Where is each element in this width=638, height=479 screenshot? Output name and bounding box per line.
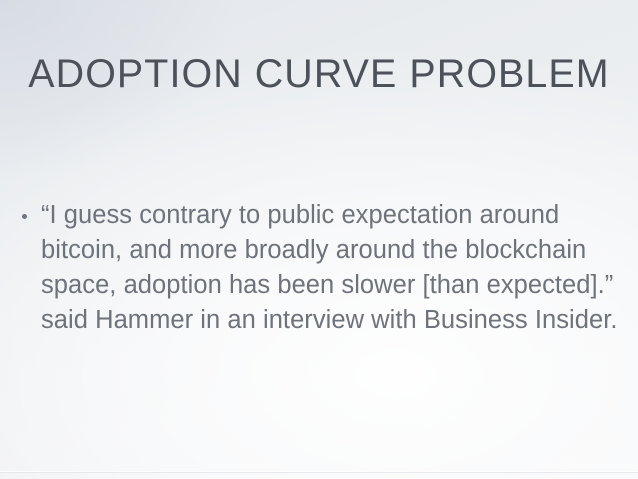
bullet-text-line-1: “I guess contrary to public expectation … xyxy=(41,198,628,233)
bottom-seam-divider xyxy=(0,471,638,472)
slide-canvas: ADOPTION CURVE PROBLEM “I guess contrary… xyxy=(0,0,638,479)
bullet-dot-icon xyxy=(22,214,27,219)
bullet-item-text: “I guess contrary to public expectation … xyxy=(41,198,628,338)
bullet-list-item: “I guess contrary to public expectation … xyxy=(14,198,628,338)
bullet-text-line-2: bitcoin, and more broadly around the blo… xyxy=(41,233,628,268)
bullet-text-line-4: said Hammer in an interview with Busines… xyxy=(41,303,628,338)
slide-body: “I guess contrary to public expectation … xyxy=(14,198,628,338)
bullet-text-line-3: space, adoption has been slower [than ex… xyxy=(41,268,628,303)
slide-title: ADOPTION CURVE PROBLEM xyxy=(5,52,633,97)
